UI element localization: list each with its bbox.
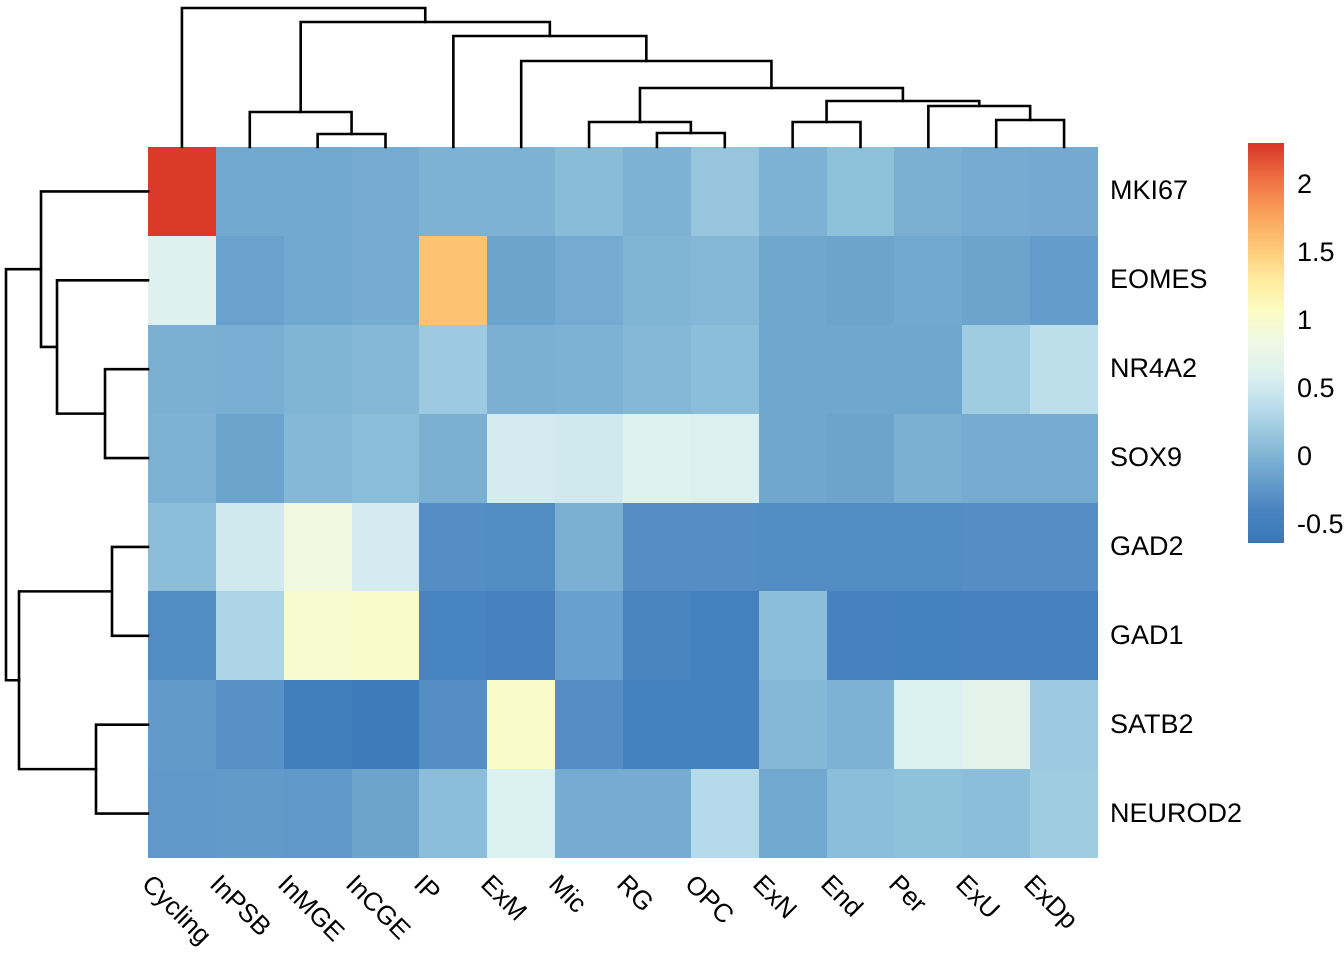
heatmap-cell	[555, 591, 623, 680]
heatmap-cell	[352, 680, 420, 769]
heatmap-cell	[419, 147, 487, 236]
heatmap-cell	[894, 591, 962, 680]
heatmap-cell	[419, 414, 487, 503]
heatmap-cell	[352, 147, 420, 236]
heatmap-cell	[894, 325, 962, 414]
heatmap-cell	[623, 503, 691, 592]
heatmap-cell	[827, 236, 895, 325]
heatmap-cell	[487, 147, 555, 236]
clustermap-figure: MKI67EOMESNR4A2SOX9GAD2GAD1SATB2NEUROD2 …	[0, 0, 1344, 960]
heatmap-cell	[352, 325, 420, 414]
heatmap-cell	[691, 147, 759, 236]
column-label-inmge: InMGE	[273, 870, 349, 946]
column-label-incge: InCGE	[341, 870, 415, 944]
heatmap-cell	[419, 591, 487, 680]
column-label-exn: ExN	[748, 870, 801, 923]
heatmap-cell	[419, 236, 487, 325]
heatmap-cell	[1030, 325, 1098, 414]
heatmap-cell	[962, 769, 1030, 858]
heatmap-cell	[216, 503, 284, 592]
dendrogram-link	[6, 269, 41, 680]
heatmap-cell	[555, 325, 623, 414]
left-dendrogram	[6, 191, 148, 813]
heatmap-cell	[623, 414, 691, 503]
heatmap-cell	[284, 236, 352, 325]
colorbar-tick-label: -0.5	[1297, 511, 1344, 538]
heatmap-cell	[962, 147, 1030, 236]
dendrogram-link	[640, 88, 903, 122]
heatmap-cell	[691, 591, 759, 680]
heatmap-cell	[827, 147, 895, 236]
heatmap-cell	[759, 147, 827, 236]
heatmap-cell	[216, 325, 284, 414]
row-label-gad2: GAD2	[1110, 533, 1184, 560]
row-label-nr4a2: NR4A2	[1110, 355, 1197, 382]
dendrogram-link	[250, 112, 352, 147]
colorbar-gradient	[1248, 143, 1284, 543]
heatmap-cell	[352, 591, 420, 680]
heatmap-cell	[1030, 147, 1098, 236]
heatmap-cell	[352, 414, 420, 503]
heatmap-cell	[759, 325, 827, 414]
heatmap-cell	[555, 769, 623, 858]
heatmap-cell	[691, 236, 759, 325]
heatmap-cell	[962, 325, 1030, 414]
dendrogram-link	[453, 36, 646, 147]
heatmap-cell	[555, 503, 623, 592]
heatmap-cell	[962, 503, 1030, 592]
heatmap-cell	[148, 414, 216, 503]
heatmap-cell	[759, 591, 827, 680]
heatmap-cell	[216, 680, 284, 769]
heatmap-cell	[487, 680, 555, 769]
heatmap-cell	[759, 680, 827, 769]
heatmap-cell	[623, 680, 691, 769]
colorbar-tick-label: 0	[1297, 443, 1312, 470]
heatmap-cell	[894, 503, 962, 592]
row-label-gad1: GAD1	[1110, 622, 1184, 649]
row-label-neurod2: NEUROD2	[1110, 800, 1242, 827]
column-label-ip: IP	[409, 870, 445, 906]
heatmap-cell	[691, 325, 759, 414]
heatmap-cell	[216, 769, 284, 858]
heatmap-cell	[148, 147, 216, 236]
dendrogram-link	[112, 547, 148, 636]
heatmap-cell	[827, 414, 895, 503]
heatmap-cell	[1030, 414, 1098, 503]
column-label-end: End	[816, 870, 867, 921]
colorbar-tick-label: 0.5	[1297, 375, 1335, 402]
dendrogram-link	[793, 122, 861, 147]
heatmap-cell	[419, 769, 487, 858]
heatmap-cell	[691, 680, 759, 769]
heatmap-cell	[487, 591, 555, 680]
heatmap-cell	[216, 591, 284, 680]
heatmap-cell	[148, 503, 216, 592]
heatmap-cell	[691, 503, 759, 592]
heatmap-cell	[827, 769, 895, 858]
heatmap-cell	[419, 325, 487, 414]
heatmap-cell	[623, 236, 691, 325]
dendrogram-link	[318, 134, 386, 147]
heatmap-cell	[1030, 591, 1098, 680]
heatmap-cell	[555, 147, 623, 236]
heatmap-cell	[284, 325, 352, 414]
heatmap-cell	[284, 503, 352, 592]
row-label-mki67: MKI67	[1110, 177, 1188, 204]
heatmap-cell	[216, 414, 284, 503]
column-label-per: Per	[884, 870, 931, 917]
heatmap-cell	[555, 680, 623, 769]
heatmap-cell	[827, 503, 895, 592]
heatmap-cell	[284, 769, 352, 858]
heatmap-cell	[352, 503, 420, 592]
heatmap-cell	[894, 680, 962, 769]
row-label-sox9: SOX9	[1110, 444, 1182, 471]
heatmap-cell	[759, 236, 827, 325]
colorbar	[1248, 143, 1284, 543]
dendrogram-link	[827, 101, 980, 122]
top-dendrogram	[182, 8, 1064, 147]
heatmap-cell	[962, 414, 1030, 503]
dendrogram-link	[996, 120, 1064, 147]
colorbar-tick-label: 2	[1297, 171, 1312, 198]
heatmap-cell	[487, 236, 555, 325]
heatmap-cell	[216, 147, 284, 236]
column-label-cycling: Cycling	[138, 870, 217, 949]
heatmap-cell	[759, 414, 827, 503]
heatmap-cell	[148, 680, 216, 769]
dendrogram-link	[96, 725, 148, 814]
heatmap-cell	[894, 147, 962, 236]
dendrogram-link	[105, 369, 148, 458]
heatmap-cell	[555, 414, 623, 503]
dendrogram-link	[928, 106, 1030, 147]
heatmap-cell	[827, 591, 895, 680]
row-label-eomes: EOMES	[1110, 266, 1208, 293]
heatmap-cell	[691, 769, 759, 858]
heatmap-cell	[487, 325, 555, 414]
heatmap-cell	[284, 591, 352, 680]
heatmap-cell	[487, 414, 555, 503]
heatmap-cell	[894, 414, 962, 503]
row-label-satb2: SATB2	[1110, 711, 1194, 738]
dendrogram-link	[657, 133, 725, 147]
heatmap-cell	[759, 503, 827, 592]
heatmap-cell	[148, 236, 216, 325]
column-label-mic: Mic	[545, 870, 592, 917]
heatmap-cell	[284, 147, 352, 236]
heatmap-cell	[894, 236, 962, 325]
heatmap-cell	[623, 769, 691, 858]
heatmap-cell	[827, 325, 895, 414]
heatmap-cell	[962, 236, 1030, 325]
heatmap-cell	[148, 769, 216, 858]
heatmap-cell	[419, 503, 487, 592]
heatmap-cell	[555, 236, 623, 325]
heatmap-grid	[148, 147, 1098, 858]
heatmap-cell	[284, 680, 352, 769]
heatmap-cell	[1030, 236, 1098, 325]
heatmap-cell	[148, 591, 216, 680]
column-label-exm: ExM	[477, 870, 532, 925]
heatmap-cell	[1030, 769, 1098, 858]
column-label-opc: OPC	[681, 870, 739, 928]
heatmap-cell	[691, 414, 759, 503]
heatmap-cell	[962, 680, 1030, 769]
dendrogram-link	[57, 280, 148, 413]
heatmap-cell	[284, 414, 352, 503]
heatmap-cell	[759, 769, 827, 858]
dendrogram-link	[589, 122, 691, 147]
dendrogram-link	[521, 61, 771, 147]
colorbar-tick-label: 1.5	[1297, 239, 1335, 266]
column-label-rg: RG	[613, 870, 659, 916]
heatmap-cell	[216, 236, 284, 325]
column-label-exdp: ExDp	[1020, 870, 1083, 933]
heatmap-cell	[623, 325, 691, 414]
heatmap-cell	[894, 769, 962, 858]
column-label-exu: ExU	[952, 870, 1005, 923]
heatmap-cell	[352, 236, 420, 325]
heatmap-cell	[419, 680, 487, 769]
heatmap-cell	[623, 147, 691, 236]
dendrogram-link	[19, 591, 112, 769]
heatmap-cell	[352, 769, 420, 858]
dendrogram-link	[182, 8, 425, 147]
heatmap-cell	[1030, 503, 1098, 592]
heatmap-cell	[1030, 680, 1098, 769]
heatmap-cell	[623, 591, 691, 680]
colorbar-tick-label: 1	[1297, 307, 1312, 334]
heatmap-cell	[487, 769, 555, 858]
heatmap-cell	[148, 325, 216, 414]
heatmap-cell	[487, 503, 555, 592]
heatmap-cell	[962, 591, 1030, 680]
heatmap-cell	[827, 680, 895, 769]
